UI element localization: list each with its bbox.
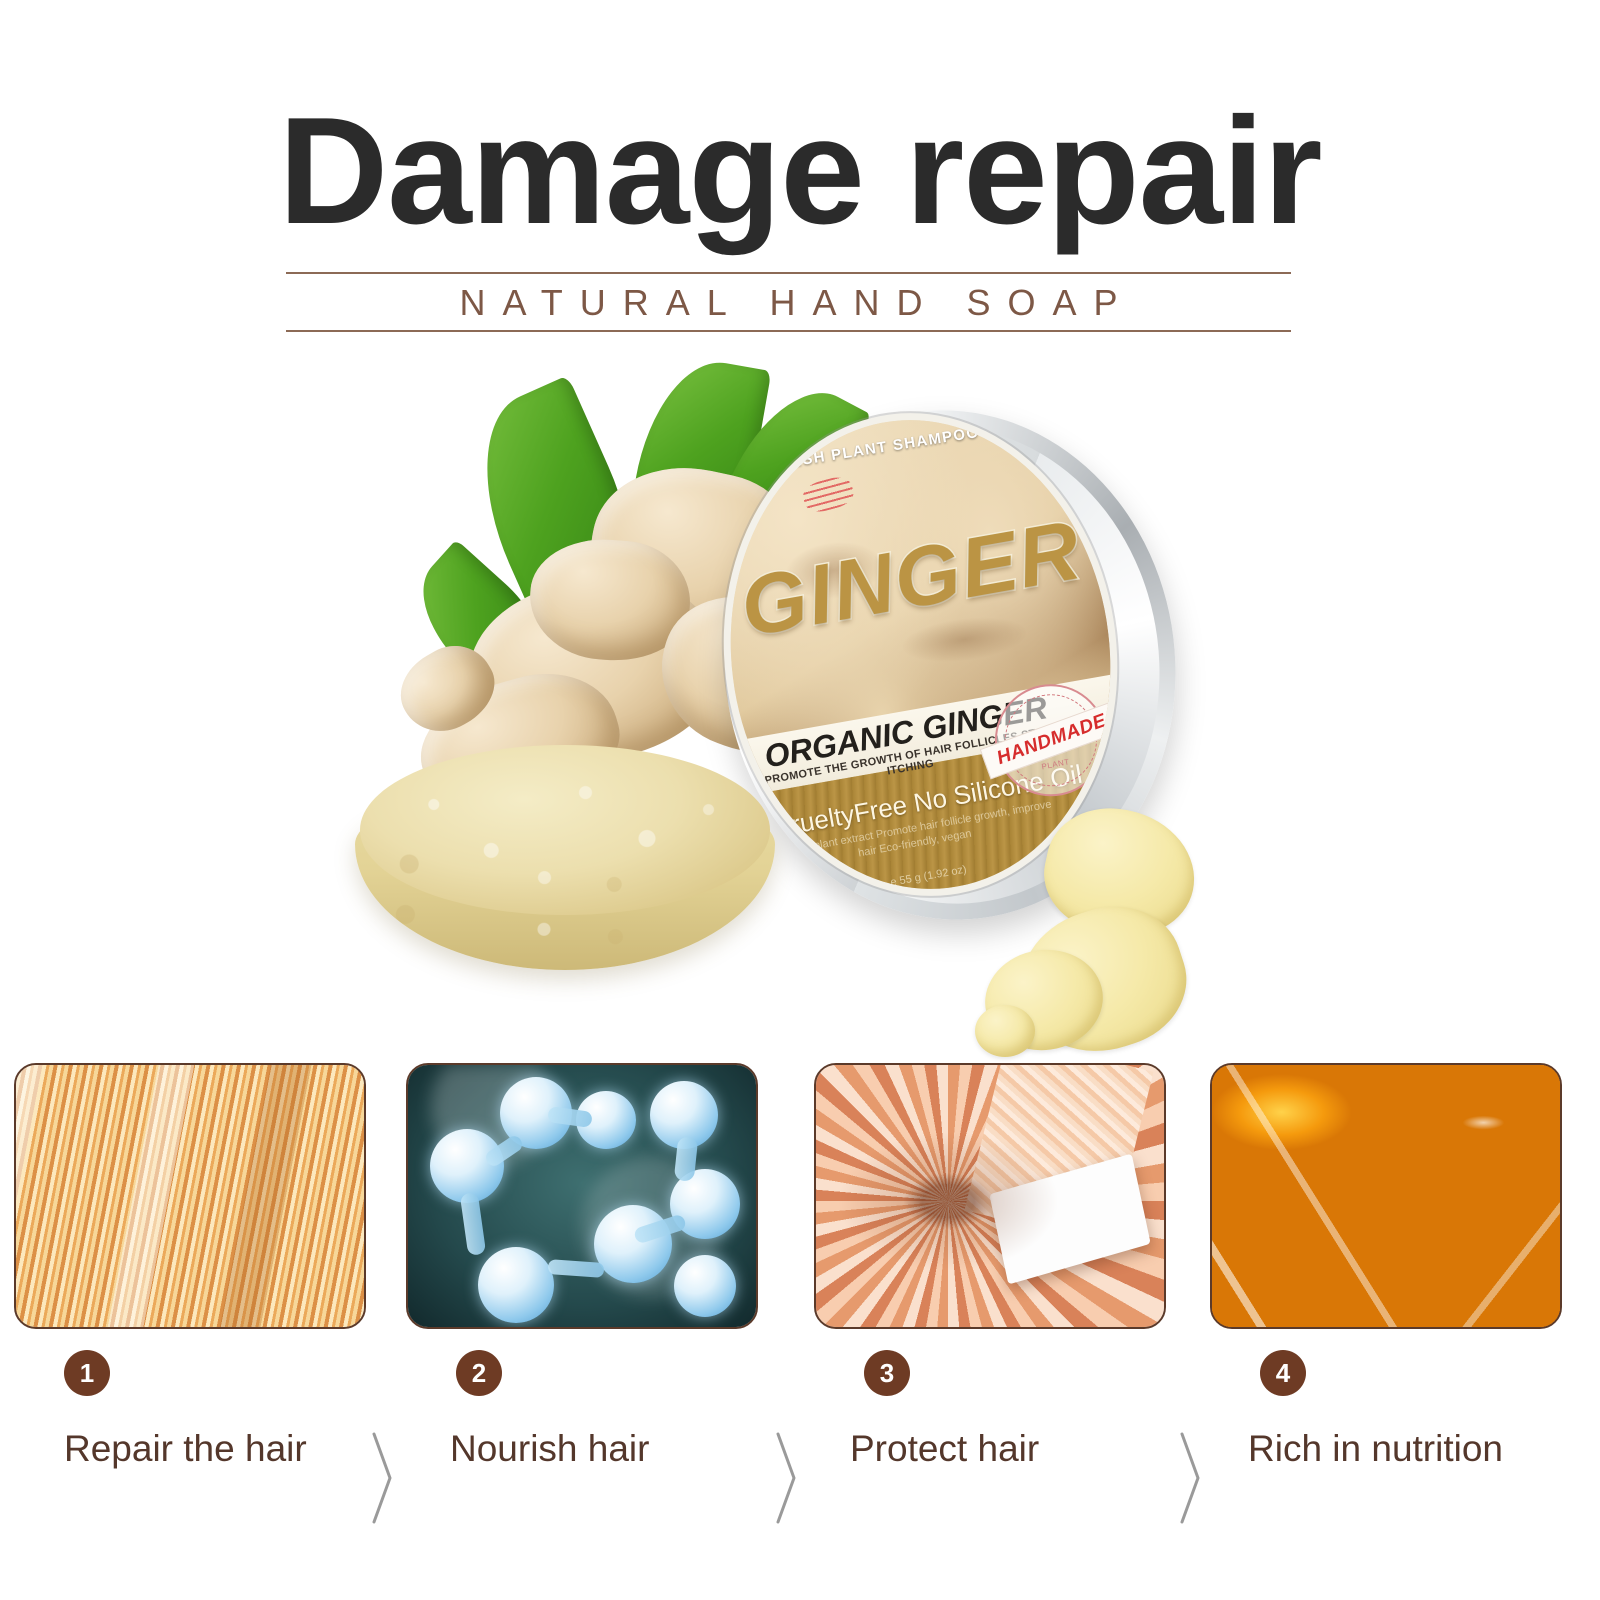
hero-product-photo: FRESH PLANT SHAMPOO BAR GINGER ORGANIC G… — [0, 350, 1600, 1030]
page-title: Damage repair — [0, 95, 1600, 247]
rule-top — [286, 272, 1291, 274]
feature-badge-number: 4 — [1260, 1350, 1306, 1396]
white-soap-bar-overlay — [989, 1153, 1150, 1284]
rule-bottom — [286, 330, 1291, 332]
feature-caption: Protect hair — [850, 1428, 1180, 1470]
feature-thumbnail-oil-capsules — [1210, 1063, 1562, 1329]
soap-bar — [355, 745, 775, 985]
chevron-right-icon — [368, 1430, 398, 1526]
hair-strand-overlay — [964, 1063, 1153, 1246]
feature-badge-number: 1 — [64, 1350, 110, 1396]
page-subtitle: NATURAL HAND SOAP — [286, 279, 1291, 327]
feature-caption: Nourish hair — [450, 1428, 770, 1470]
chevron-right-icon — [1176, 1430, 1206, 1526]
product-marketing-page: Damage repair NATURAL HAND SOAP FRESH PL… — [0, 0, 1600, 1600]
header: Damage repair NATURAL HAND SOAP — [0, 0, 1600, 350]
feature-thumbnail-blonde-hair — [14, 1063, 366, 1329]
feature-caption: Rich in nutrition — [1248, 1428, 1588, 1470]
chevron-right-icon — [772, 1430, 802, 1526]
feature-caption: Repair the hair — [64, 1428, 384, 1470]
soap-bar-top — [360, 745, 770, 915]
feature-thumbnail-molecule — [406, 1063, 758, 1329]
feature-thumbnail-copper-hair — [814, 1063, 1166, 1329]
feature-row: 1 Repair the hair — [0, 1030, 1600, 1600]
feature-badge-number: 3 — [864, 1350, 910, 1396]
feature-badge-number: 2 — [456, 1350, 502, 1396]
